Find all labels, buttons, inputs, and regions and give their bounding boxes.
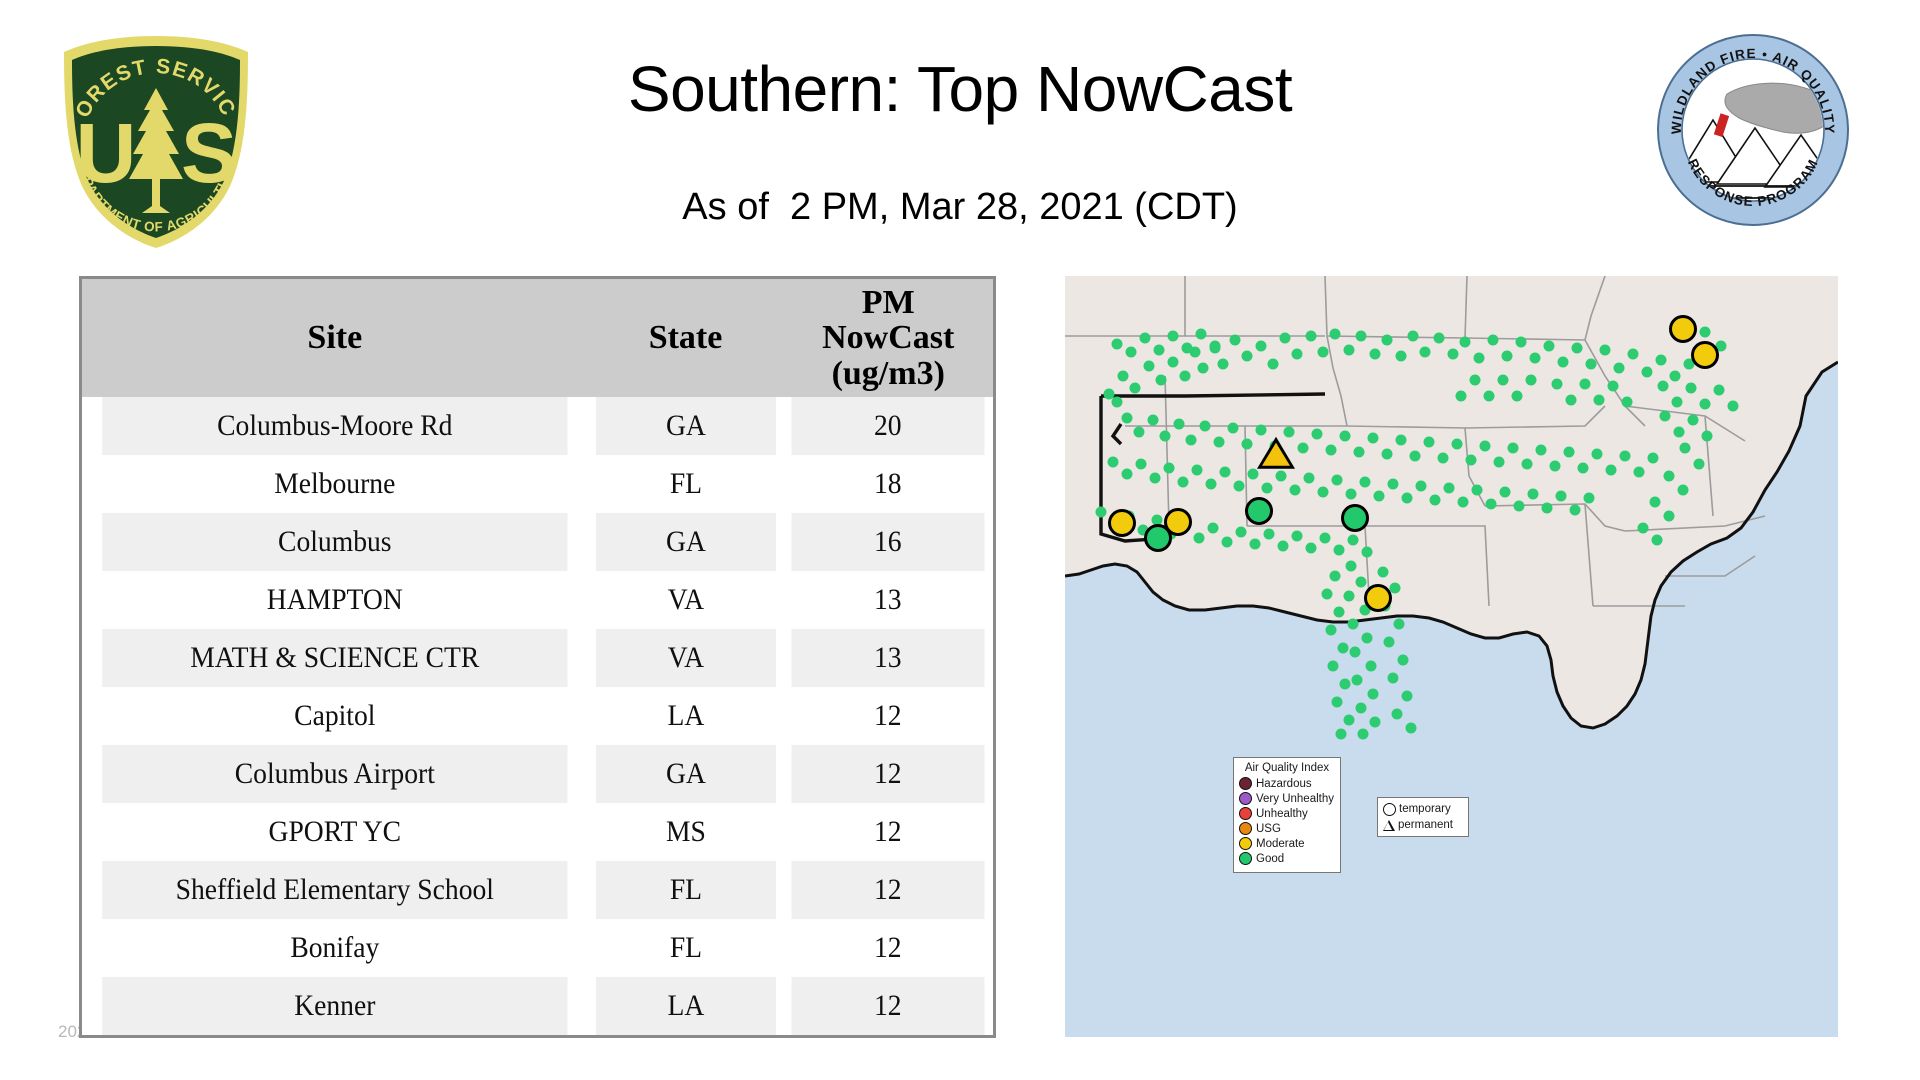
map-dot-good: [1606, 465, 1617, 476]
map-dot-good: [1416, 481, 1427, 492]
aqi-station-map[interactable]: Air Quality Index HazardousVery Unhealth…: [1065, 276, 1838, 1037]
map-dot-good: [1356, 331, 1367, 342]
cell-site: Bonifay: [102, 919, 567, 977]
map-dot-good: [1338, 643, 1349, 654]
map-dot-good: [1378, 567, 1389, 578]
map-dot-good: [1694, 459, 1705, 470]
map-dot-good: [1470, 375, 1481, 386]
map-dot-good: [1278, 541, 1289, 552]
map-dot-good: [1558, 357, 1569, 368]
table-row[interactable]: Sheffield Elementary SchoolFL12: [82, 861, 993, 919]
map-dot-good: [1268, 359, 1279, 370]
column-header-state: State: [588, 279, 784, 397]
cell-state: GA: [595, 745, 775, 803]
map-dot-good: [1572, 343, 1583, 354]
page-subtitle-timestamp: As of 2 PM, Mar 28, 2021 (CDT): [0, 186, 1920, 229]
map-dot-good: [1452, 439, 1463, 450]
map-dot-good: [1112, 339, 1123, 350]
map-dot-good: [1290, 485, 1301, 496]
map-dot-good: [1154, 345, 1165, 356]
aqi-swatch-icon: [1239, 837, 1252, 850]
map-dot-good: [1686, 383, 1697, 394]
map-dot-good: [1638, 523, 1649, 534]
map-dot-good: [1264, 529, 1275, 540]
map-dot-good: [1136, 459, 1147, 470]
cell-state: GA: [595, 513, 775, 571]
aqi-legend-label: Hazardous: [1256, 778, 1312, 790]
map-dot-good: [1122, 469, 1133, 480]
cell-pm: 12: [792, 861, 985, 919]
map-dot-good: [1566, 395, 1577, 406]
legend-label-temporary: temporary: [1399, 803, 1451, 815]
map-dot-good: [1484, 391, 1495, 402]
map-dot-good: [1530, 353, 1541, 364]
map-dot-good: [1622, 397, 1633, 408]
map-dot-good: [1118, 371, 1129, 382]
table-row[interactable]: ColumbusGA16: [82, 513, 993, 571]
map-dot-good: [1182, 343, 1193, 354]
map-dot-good: [1222, 537, 1233, 548]
map-dot-good: [1318, 487, 1329, 498]
map-dot-good: [1186, 435, 1197, 446]
map-dot-good: [1198, 363, 1209, 374]
column-header-pm-nowcast: PM NowCast (ug/m3): [783, 279, 993, 397]
map-dot-good: [1096, 507, 1107, 518]
column-header-site: Site: [82, 279, 588, 397]
map-dot-good: [1144, 361, 1155, 372]
cell-site: MATH & SCIENCE CTR: [102, 629, 567, 687]
aqi-legend-label: Unhealthy: [1256, 808, 1308, 820]
map-dot-good: [1672, 397, 1683, 408]
map-dot-good: [1474, 353, 1485, 364]
map-dot-good: [1586, 359, 1597, 370]
map-dot-good: [1396, 435, 1407, 446]
map-dot-good: [1508, 443, 1519, 454]
map-dot-good: [1700, 399, 1711, 410]
map-dot-good: [1578, 463, 1589, 474]
map-dot-good: [1332, 697, 1343, 708]
aqi-legend: Air Quality Index HazardousVery Unhealth…: [1233, 757, 1341, 873]
map-dot-good: [1728, 401, 1739, 412]
map-dot-good: [1234, 481, 1245, 492]
map-dot-good: [1346, 489, 1357, 500]
aqi-swatch-icon: [1239, 792, 1252, 805]
map-dot-good: [1344, 591, 1355, 602]
map-dot-good: [1126, 347, 1137, 358]
wfaqrp-logo: WILDLAND FIRE • AIR QUALITY RESPONSE PRO…: [1655, 32, 1851, 228]
map-dot-good: [1370, 349, 1381, 360]
map-dot-good: [1494, 457, 1505, 468]
map-dot-good: [1528, 489, 1539, 500]
map-dot-good: [1174, 419, 1185, 430]
map-dot-good: [1544, 341, 1555, 352]
map-dot-good: [1674, 427, 1685, 438]
map-dot-good: [1406, 723, 1417, 734]
aqi-legend-row: Very Unhealthy: [1239, 791, 1335, 806]
map-dot-good: [1180, 371, 1191, 382]
map-dot-good: [1356, 703, 1367, 714]
pm-header-line-1: PM: [783, 285, 993, 320]
cell-pm: 16: [792, 513, 985, 571]
table-row[interactable]: KennerLA12: [82, 977, 993, 1035]
cell-state: MS: [595, 803, 775, 861]
table-row[interactable]: HAMPTONVA13: [82, 571, 993, 629]
map-dot-good: [1292, 349, 1303, 360]
table-row[interactable]: CapitolLA12: [82, 687, 993, 745]
map-dot-good: [1388, 673, 1399, 684]
map-dot-good: [1168, 331, 1179, 342]
map-dot-good: [1362, 633, 1373, 644]
map-dot-good: [1130, 383, 1141, 394]
map-dot-good: [1438, 453, 1449, 464]
map-dot-good: [1670, 371, 1681, 382]
cell-pm: 13: [792, 629, 985, 687]
map-dot-good: [1556, 491, 1567, 502]
aqi-legend-row: USG: [1239, 821, 1335, 836]
cell-pm: 20: [792, 397, 985, 455]
map-dot-good: [1466, 455, 1477, 466]
map-dot-good: [1292, 531, 1303, 542]
map-marker-good-bonifay-fl[interactable]: [1245, 497, 1273, 525]
map-marker-permanent-columbus-ga[interactable]: [1257, 437, 1295, 469]
cell-site: Melbourne: [102, 455, 567, 513]
pm-header-line-2: NowCast: [783, 320, 993, 355]
table-row[interactable]: MATH & SCIENCE CTRVA13: [82, 629, 993, 687]
map-dot-good: [1394, 619, 1405, 630]
triangle-icon: [1383, 820, 1395, 831]
map-dot-good: [1396, 351, 1407, 362]
table-row[interactable]: Columbus AirportGA12: [82, 745, 993, 803]
aqi-legend-row: Moderate: [1239, 836, 1335, 851]
map-dot-good: [1304, 473, 1315, 484]
map-dot-good: [1648, 453, 1659, 464]
map-dot-good: [1542, 503, 1553, 514]
map-dot-good: [1392, 709, 1403, 720]
map-dot-good: [1366, 661, 1377, 672]
map-dot-good: [1340, 679, 1351, 690]
map-dot-good: [1410, 451, 1421, 462]
map-dot-good: [1448, 349, 1459, 360]
aqi-legend-rows: HazardousVery UnhealthyUnhealthyUSGModer…: [1239, 776, 1335, 866]
map-marker-good-sheffield-fl[interactable]: [1341, 504, 1369, 532]
legend-label-permanent: permanent: [1398, 819, 1453, 831]
map-dot-good: [1486, 499, 1497, 510]
map-dot-good: [1362, 547, 1373, 558]
map-dot-good: [1398, 655, 1409, 666]
map-dot-good: [1384, 637, 1395, 648]
map-dot-good: [1306, 331, 1317, 342]
map-dot-good: [1210, 341, 1221, 352]
aqi-legend-title: Air Quality Index: [1239, 762, 1335, 774]
map-marker-moderate-math-science-ctr-va[interactable]: [1691, 341, 1719, 369]
aqi-legend-label: Good: [1256, 853, 1284, 865]
map-dot-good: [1382, 449, 1393, 460]
map-dot-good: [1594, 395, 1605, 406]
map-dot-good: [1650, 497, 1661, 508]
map-dot-good: [1408, 331, 1419, 342]
table-body: Columbus-Moore RdGA20MelbourneFL18Columb…: [82, 397, 993, 1035]
wfaqrp-circular-icon: WILDLAND FIRE • AIR QUALITY RESPONSE PRO…: [1655, 32, 1851, 228]
map-dot-good: [1352, 675, 1363, 686]
map-dot-good: [1514, 501, 1525, 512]
aqi-swatch-icon: [1239, 777, 1252, 790]
map-dot-good: [1526, 375, 1537, 386]
map-dot-good: [1700, 327, 1711, 338]
map-dot-good: [1150, 473, 1161, 484]
map-dot-good: [1108, 457, 1119, 468]
map-dot-good: [1550, 461, 1561, 472]
table-row[interactable]: Columbus-Moore RdGA20: [82, 397, 993, 455]
map-dot-good: [1242, 439, 1253, 450]
map-dot-good: [1584, 493, 1595, 504]
map-dot-good: [1388, 479, 1399, 490]
map-dot-good: [1344, 345, 1355, 356]
map-dot-good: [1592, 449, 1603, 460]
map-dot-good: [1134, 427, 1145, 438]
map-dot-good: [1236, 527, 1247, 538]
aqi-legend-row: Good: [1239, 851, 1335, 866]
map-dot-good: [1148, 415, 1159, 426]
map-dot-good: [1336, 729, 1347, 740]
map-dot-good: [1614, 363, 1625, 374]
map-dot-good: [1330, 571, 1341, 582]
cell-site: Columbus Airport: [102, 745, 567, 803]
map-dot-good: [1206, 479, 1217, 490]
map-dot-good: [1312, 429, 1323, 440]
aqi-legend-label: Moderate: [1256, 838, 1305, 850]
map-dot-good: [1664, 471, 1675, 482]
map-dot-good: [1370, 717, 1381, 728]
cell-state: FL: [595, 919, 775, 977]
map-dot-good: [1112, 397, 1123, 408]
map-dot-good: [1580, 379, 1591, 390]
station-type-legend: temporary permanent: [1377, 797, 1469, 837]
map-dot-good: [1680, 443, 1691, 454]
map-dot-good: [1306, 543, 1317, 554]
cell-state: LA: [595, 687, 775, 745]
map-dot-good: [1348, 535, 1359, 546]
aqi-legend-row: Unhealthy: [1239, 806, 1335, 821]
map-dot-good: [1688, 415, 1699, 426]
aqi-legend-row: Hazardous: [1239, 776, 1335, 791]
table-row[interactable]: GPORT YCMS12: [82, 803, 993, 861]
map-dot-good: [1220, 467, 1231, 478]
map-dot-good: [1664, 511, 1675, 522]
map-dot-good: [1628, 349, 1639, 360]
map-dot-good: [1328, 661, 1339, 672]
aqi-legend-label: USG: [1256, 823, 1281, 835]
map-dot-good: [1346, 561, 1357, 572]
map-dot-good: [1358, 729, 1369, 740]
map-dot-good: [1322, 589, 1333, 600]
cell-site: GPORT YC: [102, 803, 567, 861]
map-dot-good: [1218, 359, 1229, 370]
map-marker-moderate-hampton-va[interactable]: [1669, 315, 1697, 343]
map-dot-good: [1460, 337, 1471, 348]
cell-state: VA: [595, 629, 775, 687]
table-header-row: Site State PM NowCast (ug/m3): [82, 279, 993, 397]
map-dot-good: [1500, 487, 1511, 498]
cell-site: Capitol: [102, 687, 567, 745]
map-dot-good: [1256, 341, 1267, 352]
map-dot-good: [1714, 385, 1725, 396]
map-dot-good: [1600, 345, 1611, 356]
map-dot-good: [1228, 423, 1239, 434]
map-dot-good: [1276, 471, 1287, 482]
map-dot-good: [1208, 523, 1219, 534]
table-row[interactable]: BonifayFL12: [82, 919, 993, 977]
map-dot-good: [1330, 329, 1341, 340]
map-dot-good: [1458, 497, 1469, 508]
cell-state: VA: [595, 571, 775, 629]
aqi-swatch-icon: [1239, 807, 1252, 820]
map-dot-good: [1634, 467, 1645, 478]
map-dot-good: [1164, 463, 1175, 474]
map-dot-good: [1552, 379, 1563, 390]
map-dot-good: [1334, 545, 1345, 556]
map-dot-good: [1652, 535, 1663, 546]
map-dot-good: [1570, 505, 1581, 516]
map-dot-good: [1320, 533, 1331, 544]
map-dot-good: [1350, 647, 1361, 658]
cell-pm: 12: [792, 687, 985, 745]
cell-state: LA: [595, 977, 775, 1035]
map-dot-good: [1348, 619, 1359, 630]
top-nowcast-table: Site State PM NowCast (ug/m3) Columbus-M…: [79, 276, 996, 1038]
map-dot-good: [1472, 485, 1483, 496]
pm-header-line-3: (ug/m3): [783, 356, 993, 391]
cell-pm: 12: [792, 803, 985, 861]
map-dot-good: [1344, 715, 1355, 726]
map-dot-good: [1356, 577, 1367, 588]
map-dot-good: [1160, 431, 1171, 442]
map-dot-good: [1498, 375, 1509, 386]
map-dot-good: [1332, 475, 1343, 486]
cell-site: Columbus: [102, 513, 567, 571]
map-dot-good: [1326, 625, 1337, 636]
cell-site: Kenner: [102, 977, 567, 1035]
map-dot-good: [1196, 329, 1207, 340]
table-row[interactable]: MelbourneFL18: [82, 455, 993, 513]
map-dot-good: [1250, 539, 1261, 550]
cell-site: HAMPTON: [102, 571, 567, 629]
map-dot-good: [1334, 607, 1345, 618]
map-dot-good: [1430, 495, 1441, 506]
map-dot-good: [1192, 465, 1203, 476]
map-dot-good: [1390, 583, 1401, 594]
map-dot-good: [1402, 691, 1413, 702]
map-dot-good: [1512, 391, 1523, 402]
map-dot-good: [1280, 333, 1291, 344]
map-dot-good: [1354, 447, 1365, 458]
map-dot-good: [1402, 493, 1413, 504]
map-dot-good: [1642, 367, 1653, 378]
map-dot-good: [1360, 477, 1371, 488]
map-marker-moderate-capitol-la[interactable]: [1108, 509, 1136, 537]
cell-pm: 12: [792, 745, 985, 803]
map-dot-good: [1374, 491, 1385, 502]
map-dot-good: [1620, 451, 1631, 462]
map-dot-good: [1488, 335, 1499, 346]
map-dot-good: [1122, 413, 1133, 424]
map-dot-good: [1368, 433, 1379, 444]
cell-state: GA: [595, 397, 775, 455]
map-dot-good: [1156, 375, 1167, 386]
map-dot-good: [1262, 483, 1273, 494]
map-dot-good: [1660, 411, 1671, 422]
map-dot-good: [1248, 469, 1259, 480]
map-dot-good: [1678, 485, 1689, 496]
map-dot-good: [1564, 447, 1575, 458]
legend-row-temporary: temporary: [1383, 801, 1463, 817]
map-dot-good: [1326, 445, 1337, 456]
cell-pm: 13: [792, 571, 985, 629]
map-dot-good: [1658, 381, 1669, 392]
cell-site: Columbus-Moore Rd: [102, 397, 567, 455]
aqi-legend-label: Very Unhealthy: [1256, 793, 1334, 805]
map-dot-good: [1522, 459, 1533, 470]
map-dot-good: [1702, 431, 1713, 442]
aqi-swatch-icon: [1239, 852, 1252, 865]
map-dot-good: [1256, 425, 1267, 436]
map-dot-good: [1230, 335, 1241, 346]
map-dot-good: [1340, 431, 1351, 442]
map-dot-good: [1178, 477, 1189, 488]
map-dot-good: [1368, 689, 1379, 700]
map-dot-good: [1200, 421, 1211, 432]
circle-icon: [1383, 803, 1396, 816]
map-dot-good: [1194, 533, 1205, 544]
map-dot-good: [1502, 351, 1513, 362]
map-dot-good: [1456, 391, 1467, 402]
legend-row-permanent: permanent: [1383, 817, 1463, 833]
page-title: Southern: Top NowCast: [0, 52, 1920, 126]
map-dot-good: [1214, 437, 1225, 448]
map-dot-good: [1420, 347, 1431, 358]
map-dot-good: [1140, 333, 1151, 344]
map-dot-good: [1656, 355, 1667, 366]
map-dot-good: [1318, 347, 1329, 358]
map-marker-moderate-gport-yc-ms[interactable]: [1164, 508, 1192, 536]
map-dot-good: [1608, 381, 1619, 392]
map-dot-good: [1168, 357, 1179, 368]
aqi-swatch-icon: [1239, 822, 1252, 835]
map-dot-good: [1480, 441, 1491, 452]
map-dot-good: [1242, 351, 1253, 362]
map-dot-good: [1298, 443, 1309, 454]
cell-pm: 12: [792, 977, 985, 1035]
cell-state: FL: [595, 861, 775, 919]
map-dot-good: [1424, 437, 1435, 448]
cell-site: Sheffield Elementary School: [102, 861, 567, 919]
map-dot-good: [1382, 335, 1393, 346]
map-dot-good: [1444, 483, 1455, 494]
cell-pm: 18: [792, 455, 985, 513]
map-dot-good: [1434, 333, 1445, 344]
cell-pm: 12: [792, 919, 985, 977]
cell-state: FL: [595, 455, 775, 513]
map-marker-moderate-melbourne-fl[interactable]: [1364, 584, 1392, 612]
map-dot-good: [1536, 445, 1547, 456]
map-dot-good: [1516, 337, 1527, 348]
